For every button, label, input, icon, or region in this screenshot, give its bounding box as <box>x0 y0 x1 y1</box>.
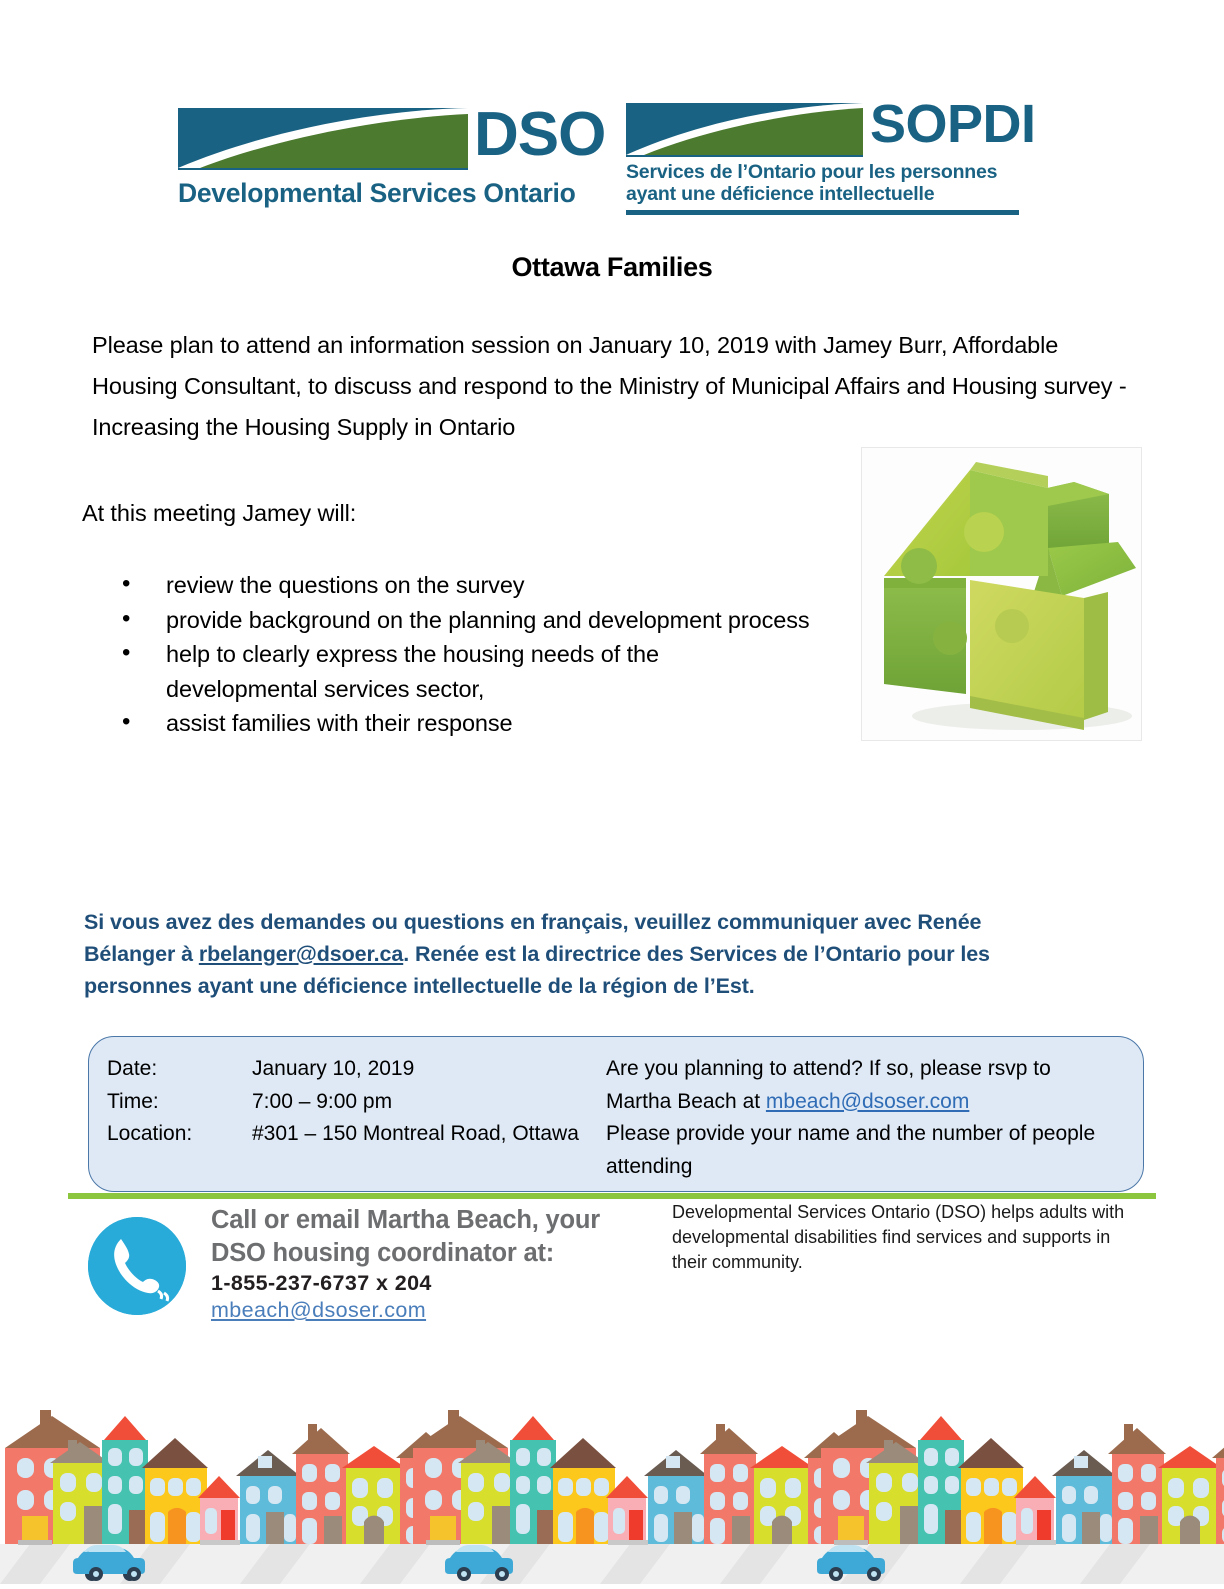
detail-row-time: Time: 7:00 – 9:00 pm <box>107 1086 587 1119</box>
contact-heading: Call or email Martha Beach, your DSO hou… <box>211 1204 651 1270</box>
contact-phone-number: 1-855-237-6737 x 204 <box>211 1271 432 1296</box>
intro-paragraph: Please plan to attend an information ses… <box>92 325 1132 448</box>
phone-icon <box>88 1217 186 1315</box>
page-title: Ottawa Families <box>0 252 1224 283</box>
logo-band: DSO Developmental Services Ontario SOPDI… <box>0 95 1224 225</box>
french-notice: Si vous avez des demandes ou questions e… <box>84 906 1074 1002</box>
rsvp-line-3: Please provide your name and the number … <box>606 1118 1106 1183</box>
sopdi-acronym: SOPDI <box>870 97 1036 151</box>
sopdi-tagline-line2: ayant une déficience intellectuelle <box>626 183 934 206</box>
dso-blurb: Developmental Services Ontario (DSO) hel… <box>672 1200 1142 1275</box>
sopdi-swoosh-icon <box>626 103 863 157</box>
agenda-list: review the questions on the survey provi… <box>116 568 816 741</box>
sopdi-underline <box>626 210 1019 215</box>
sopdi-tagline-line1: Services de l’Ontario pour les personnes <box>626 161 997 184</box>
event-details-box: Date: January 10, 2019 Time: 7:00 – 9:00… <box>88 1036 1144 1192</box>
rsvp-line-2: Martha Beach at mbeach@dsoser.com <box>606 1086 1106 1119</box>
street-of-houses-illustration <box>0 1400 1224 1584</box>
list-item: help to clearly express the housing need… <box>116 637 816 706</box>
green-divider <box>68 1193 1156 1199</box>
location-label: Location: <box>107 1118 252 1151</box>
list-item: review the questions on the survey <box>116 568 816 603</box>
detail-row-location: Location: #301 – 150 Montreal Road, Otta… <box>107 1118 587 1151</box>
rsvp-line-1: Are you planning to attend? If so, pleas… <box>606 1053 1106 1086</box>
time-value: 7:00 – 9:00 pm <box>252 1086 392 1119</box>
dso-tagline: Developmental Services Ontario <box>178 178 576 209</box>
meeting-lead-text: At this meeting Jamey will: <box>82 500 356 527</box>
puzzle-house-image <box>861 447 1142 741</box>
date-label: Date: <box>107 1053 252 1086</box>
location-value: #301 – 150 Montreal Road, Ottawa <box>252 1118 579 1151</box>
french-email-link[interactable]: rbelanger@dsoer.ca <box>199 942 403 966</box>
list-item: provide background on the planning and d… <box>116 603 816 638</box>
list-item: assist families with their response <box>116 706 816 741</box>
rsvp-email-link[interactable]: mbeach@dsoser.com <box>766 1090 969 1113</box>
event-details-left: Date: January 10, 2019 Time: 7:00 – 9:00… <box>107 1053 587 1151</box>
detail-row-date: Date: January 10, 2019 <box>107 1053 587 1086</box>
contact-email-link[interactable]: mbeach@dsoser.com <box>211 1298 426 1323</box>
sopdi-logo: SOPDI Services de l’Ontario pour les per… <box>626 103 1026 221</box>
dso-logo: DSO Developmental Services Ontario <box>178 108 606 220</box>
date-value: January 10, 2019 <box>252 1053 414 1086</box>
dso-acronym: DSO <box>474 104 605 166</box>
time-label: Time: <box>107 1086 252 1119</box>
dso-swoosh-icon <box>178 108 468 170</box>
rsvp-prefix: Martha Beach at <box>606 1090 766 1113</box>
rsvp-block: Are you planning to attend? If so, pleas… <box>606 1053 1106 1183</box>
